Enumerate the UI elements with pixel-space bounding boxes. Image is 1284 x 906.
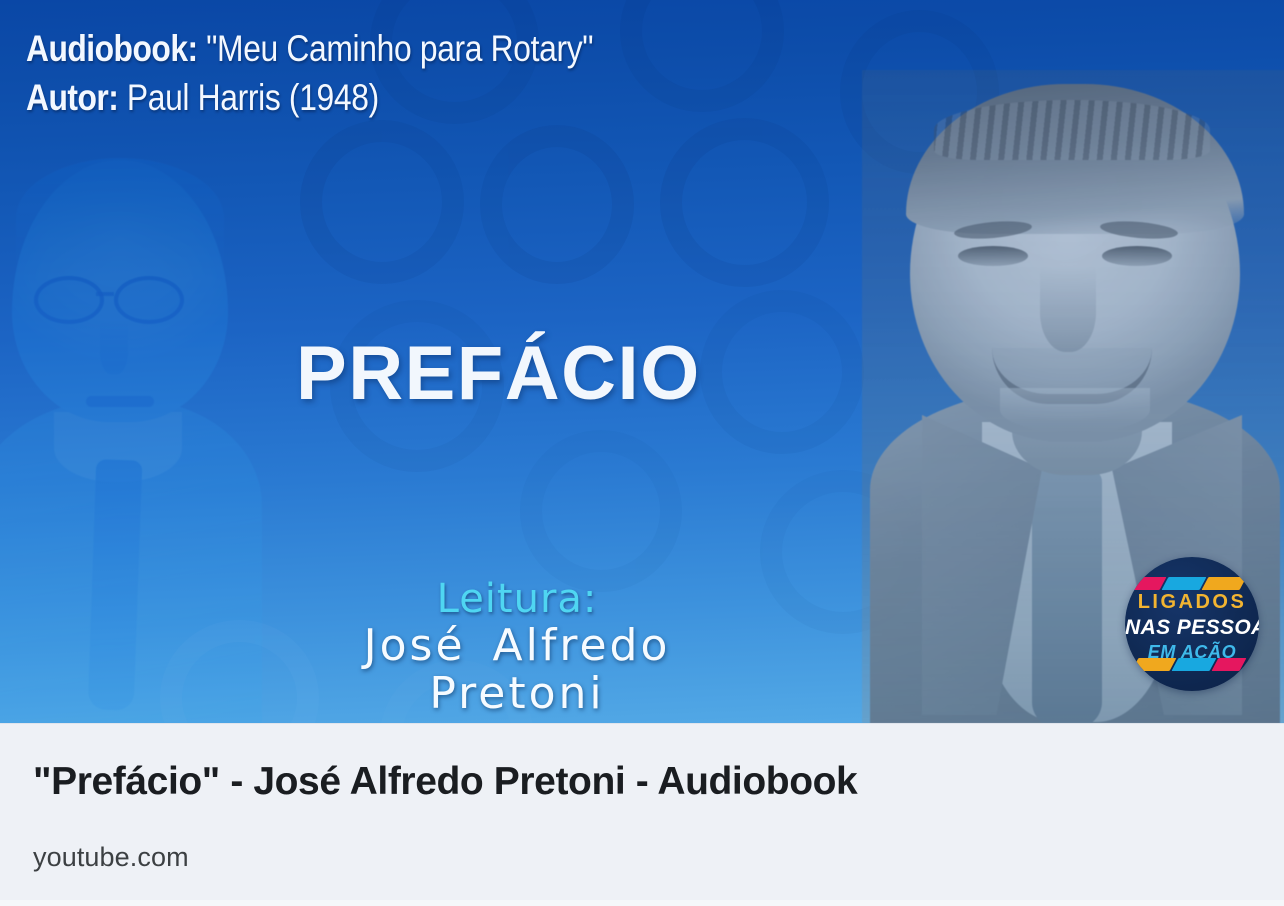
badge-line-nas-pessoas: NAS PESSOAS xyxy=(1125,616,1259,640)
thumbnail-header: Audiobook: "Meu Caminho para Rotary" Aut… xyxy=(26,24,686,122)
portrait-glasses-right xyxy=(114,276,184,324)
portrait-glasses-left xyxy=(34,276,104,324)
portrait-nose xyxy=(100,320,128,374)
portrait-paul-harris xyxy=(0,150,282,723)
link-preview-screen: Audiobook: "Meu Caminho para Rotary" Aut… xyxy=(0,0,1284,906)
stripe-gold xyxy=(1132,658,1177,671)
audiobook-line: Audiobook: "Meu Caminho para Rotary" xyxy=(26,24,593,73)
stripe-gold xyxy=(1202,577,1247,590)
thumbnail-main-word: PREFÁCIO xyxy=(296,330,701,417)
stripe-pink xyxy=(1212,658,1247,671)
ring-icon xyxy=(300,120,464,284)
video-thumbnail[interactable]: Audiobook: "Meu Caminho para Rotary" Aut… xyxy=(0,0,1284,723)
link-preview-card[interactable]: "Prefácio" - José Alfredo Pretoni - Audi… xyxy=(0,723,1284,906)
link-title[interactable]: "Prefácio" - José Alfredo Pretoni - Audi… xyxy=(33,760,857,804)
reader-label: Leitura: xyxy=(282,578,752,620)
stripe-cyan xyxy=(1162,577,1207,590)
portrait-glasses-bridge xyxy=(96,292,114,296)
ring-icon xyxy=(520,430,682,592)
reader-name: José Alfredo Pretoni xyxy=(282,622,752,719)
portrait-tie xyxy=(88,459,143,710)
card-bottom-divider xyxy=(0,900,1284,906)
badge-stripes-top xyxy=(1125,577,1259,590)
link-domain: youtube.com xyxy=(33,842,189,873)
ring-icon xyxy=(480,125,634,284)
ring-icon xyxy=(700,290,864,454)
author-label: Autor: xyxy=(26,77,118,118)
portrait-mouth xyxy=(86,396,154,407)
ring-icon xyxy=(660,118,829,287)
audiobook-label: Audiobook: xyxy=(26,28,198,69)
ligados-nas-pessoas-logo: LIGADOS NAS PESSOAS EM AÇÃO xyxy=(1125,557,1259,691)
badge-stripes-bottom xyxy=(1125,658,1259,671)
badge-line-ligados: LIGADOS xyxy=(1125,591,1259,614)
portrait-hairline xyxy=(16,158,224,278)
author-name: Paul Harris (1948) xyxy=(127,77,379,118)
author-line: Autor: Paul Harris (1948) xyxy=(26,73,593,122)
audiobook-title: "Meu Caminho para Rotary" xyxy=(206,28,593,69)
reader-credit: Leitura: José Alfredo Pretoni xyxy=(282,578,752,719)
stripe-cyan xyxy=(1172,658,1217,671)
